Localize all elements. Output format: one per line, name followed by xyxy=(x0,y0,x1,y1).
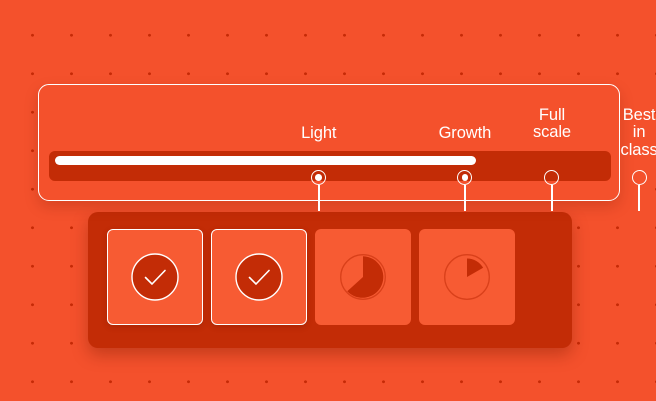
card-3[interactable] xyxy=(315,229,411,325)
cards-panel xyxy=(88,212,572,348)
pie-chart-icon xyxy=(441,251,493,303)
card-4[interactable] xyxy=(419,229,515,325)
marker-stem xyxy=(638,185,640,211)
slider-marker-full-scale[interactable] xyxy=(543,170,561,211)
card-2[interactable] xyxy=(211,229,307,325)
tick-label-best-in-class: Best in class xyxy=(621,107,656,159)
slider-marker-best-in-class[interactable] xyxy=(630,170,648,211)
marker-dot-icon xyxy=(632,170,647,185)
marker-dot-icon xyxy=(311,170,326,185)
slider-progress-widget: Light Growth Full scale Best in class xyxy=(0,0,656,401)
slider-fill xyxy=(55,156,476,165)
pie-chart-icon xyxy=(337,251,389,303)
check-circle-icon xyxy=(129,251,181,303)
slider-panel: Light Growth Full scale Best in class xyxy=(38,84,620,201)
marker-dot-icon xyxy=(544,170,559,185)
tick-label-full-scale: Full scale xyxy=(533,107,571,142)
marker-dot-icon xyxy=(457,170,472,185)
card-1[interactable] xyxy=(107,229,203,325)
tick-labels: Light Growth Full scale Best in class xyxy=(39,85,619,200)
tick-label-growth: Growth xyxy=(439,125,492,142)
marker-stem xyxy=(464,185,466,211)
marker-stem xyxy=(551,185,553,211)
slider-marker-light[interactable] xyxy=(310,170,328,211)
marker-stem xyxy=(318,185,320,211)
slider-marker-growth[interactable] xyxy=(456,170,474,211)
cards-row xyxy=(107,229,515,325)
slider-track[interactable] xyxy=(49,151,611,181)
tick-label-light: Light xyxy=(301,125,336,142)
check-circle-icon xyxy=(233,251,285,303)
